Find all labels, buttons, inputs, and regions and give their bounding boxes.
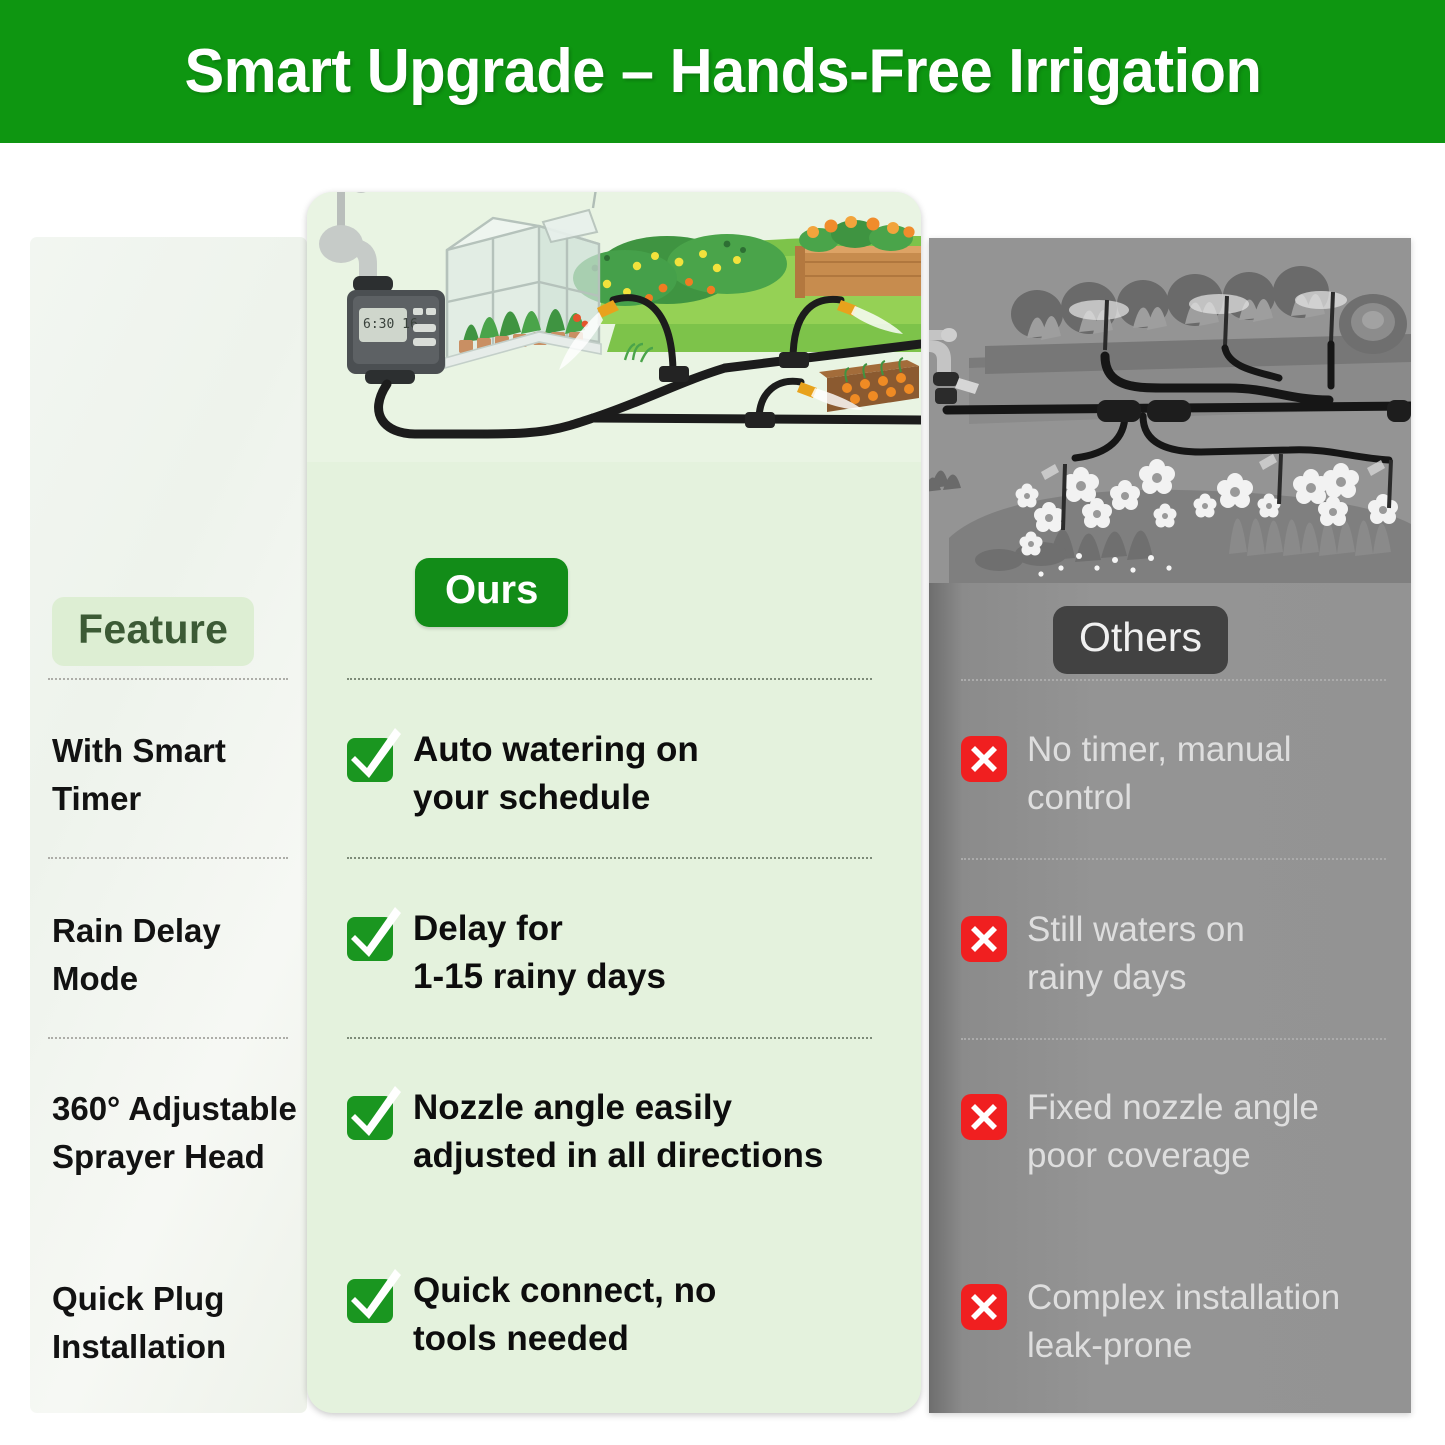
ours-line: 1-15 rainy days: [413, 953, 666, 1001]
others-line: Still waters on: [1027, 906, 1245, 954]
page-title: Smart Upgrade – Hands-Free Irrigation: [184, 36, 1261, 107]
ours-line: Delay for: [413, 905, 666, 953]
divider: [347, 1037, 872, 1039]
grayscale-irrigation-scene: [929, 238, 1411, 583]
others-line: control: [1027, 774, 1292, 822]
feature-label-sprayer-head: 360° Adjustable Sprayer Head: [52, 1085, 302, 1181]
others-text: No timer, manual control: [1009, 726, 1292, 822]
others-row-sprayer-head: Fixed nozzle angle poor coverage: [961, 1084, 1401, 1180]
check-mark-icon: [347, 1090, 395, 1138]
ours-line: adjusted in all directions: [413, 1132, 823, 1180]
check-mark-icon: [347, 1273, 395, 1321]
ours-text: Nozzle angle easily adjusted in all dire…: [395, 1084, 823, 1180]
others-line: poor coverage: [1027, 1132, 1319, 1180]
color-irrigation-scene: 6:30 16: [307, 192, 921, 462]
others-line: Complex installation: [1027, 1274, 1340, 1322]
divider: [347, 857, 872, 859]
divider: [961, 679, 1386, 681]
feature-line: Sprayer Head: [52, 1133, 302, 1181]
feature-label-smart-timer: With Smart Timer: [52, 727, 302, 823]
ours-text: Auto watering on your schedule: [395, 726, 699, 822]
divider: [48, 857, 288, 859]
ours-row-smart-timer: Auto watering on your schedule: [347, 726, 897, 822]
divider: [347, 678, 872, 680]
others-line: No timer, manual: [1027, 726, 1292, 774]
feature-label-rain-delay: Rain Delay Mode: [52, 907, 302, 1003]
others-column-header: Others: [1053, 606, 1228, 674]
ours-row-quick-plug: Quick connect, no tools needed: [347, 1267, 897, 1363]
feature-line: With Smart: [52, 727, 302, 775]
others-row-rain-delay: Still waters on rainy days: [961, 906, 1401, 1002]
divider: [961, 1038, 1386, 1040]
ours-line: your schedule: [413, 774, 699, 822]
feature-line: Quick Plug: [52, 1275, 302, 1323]
ours-badge: Ours: [415, 558, 568, 627]
feature-badge: Feature: [52, 597, 254, 666]
feature-line: Installation: [52, 1323, 302, 1371]
ours-row-rain-delay: Delay for 1-15 rainy days: [347, 905, 897, 1001]
cross-mark-icon: [961, 1284, 1009, 1332]
ours-line: Nozzle angle easily: [413, 1084, 823, 1132]
ours-line: tools needed: [413, 1315, 716, 1363]
ours-line: Auto watering on: [413, 726, 699, 774]
divider: [48, 678, 288, 680]
ours-row-sprayer-head: Nozzle angle easily adjusted in all dire…: [347, 1084, 897, 1180]
others-row-smart-timer: No timer, manual control: [961, 726, 1401, 822]
ours-line: Quick connect, no: [413, 1267, 716, 1315]
feature-line: Rain Delay: [52, 907, 302, 955]
svg-text:6:30 16: 6:30 16: [363, 317, 418, 332]
feature-column-panel: Feature With Smart Timer Rain Delay Mode…: [30, 237, 307, 1413]
ours-column-header: Ours: [415, 558, 568, 627]
cross-mark-icon: [961, 1094, 1009, 1142]
ours-text: Quick connect, no tools needed: [395, 1267, 716, 1363]
others-text: Complex installation leak-prone: [1009, 1274, 1340, 1370]
raised-planter-box: [795, 216, 921, 298]
others-text: Fixed nozzle angle poor coverage: [1009, 1084, 1319, 1180]
others-badge: Others: [1053, 606, 1228, 674]
ours-column-panel: 6:30 16: [307, 192, 921, 1413]
cross-mark-icon: [961, 916, 1009, 964]
feature-line: Timer: [52, 775, 302, 823]
others-line: leak-prone: [1027, 1322, 1340, 1370]
others-text: Still waters on rainy days: [1009, 906, 1245, 1002]
divider: [48, 1037, 288, 1039]
cross-mark-icon: [961, 736, 1009, 784]
smart-timer-controller: 6:30 16: [347, 276, 445, 384]
feature-column-header: Feature: [52, 597, 254, 666]
others-row-quick-plug: Complex installation leak-prone: [961, 1274, 1401, 1370]
feature-line: 360° Adjustable: [52, 1085, 302, 1133]
others-column-panel: Others No timer, manual control Still wa…: [929, 238, 1411, 1413]
ours-text: Delay for 1-15 rainy days: [395, 905, 666, 1001]
ours-illustration: 6:30 16: [307, 192, 921, 462]
others-line: rainy days: [1027, 954, 1245, 1002]
others-illustration: [929, 238, 1411, 583]
feature-label-quick-plug: Quick Plug Installation: [52, 1275, 302, 1371]
others-line: Fixed nozzle angle: [1027, 1084, 1319, 1132]
header-banner: Smart Upgrade – Hands-Free Irrigation: [0, 0, 1445, 143]
divider: [961, 858, 1386, 860]
check-mark-icon: [347, 911, 395, 959]
check-mark-icon: [347, 732, 395, 780]
feature-line: Mode: [52, 955, 302, 1003]
